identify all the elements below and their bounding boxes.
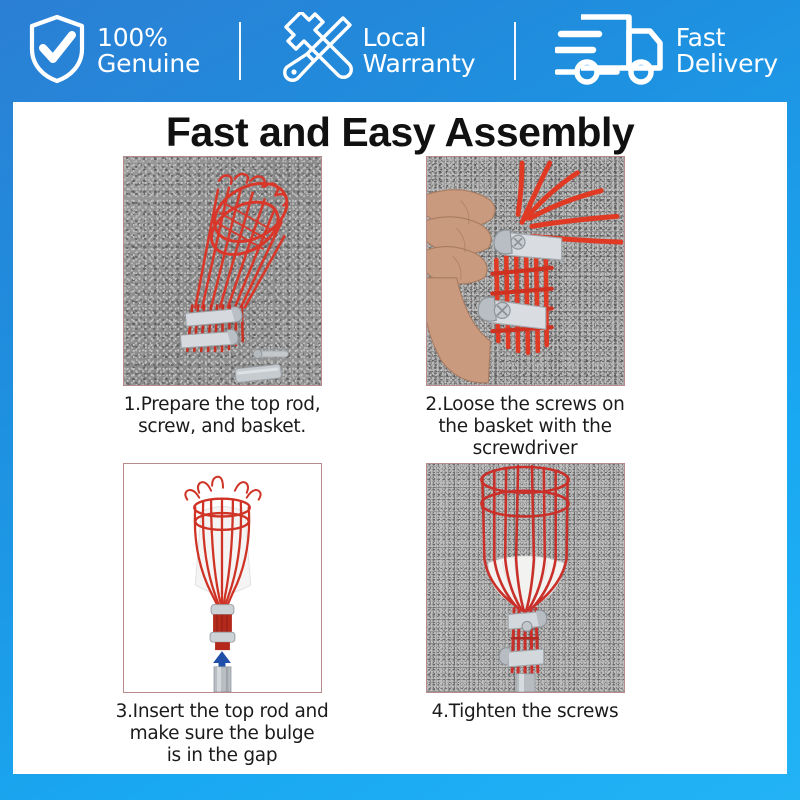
step-2-photo: [426, 156, 625, 386]
fruit-picker-basket-illustration: [124, 157, 321, 385]
page-title: Fast and Easy Assembly: [13, 102, 787, 156]
badge-genuine: 100% Genuine: [26, 13, 200, 89]
coupling: [210, 605, 235, 651]
step-3-caption: 3.Insert the top rod and make sure the b…: [116, 701, 329, 766]
assembled-picker-illustration: [427, 464, 624, 692]
badge-genuine-label: 100% Genuine: [97, 25, 200, 78]
hose-clamp-lower: [499, 648, 544, 667]
step-1: 1.Prepare the top rod, screw, and basket…: [72, 156, 372, 438]
step-2: 2.Loose the screws on the basket with th…: [375, 156, 675, 459]
shield-check-icon: [26, 13, 88, 89]
badge-warranty: Local Warranty: [280, 12, 476, 90]
steps-grid: 1.Prepare the top rod, screw, and basket…: [13, 156, 787, 768]
hand: [427, 190, 495, 383]
infographic-page: 100% Genuine Local Warranty: [0, 0, 800, 800]
step-2-caption: 2.Loose the screws on the basket with th…: [425, 394, 624, 459]
step-4-photo: [426, 463, 625, 693]
content-card: Fast and Easy Assembly: [13, 102, 787, 774]
insert-rod-illustration: [124, 464, 321, 692]
step-4-caption: 4.Tighten the screws: [432, 701, 619, 723]
step-1-photo: [123, 156, 322, 386]
badge-warranty-label: Local Warranty: [363, 25, 476, 78]
top-rod: [214, 667, 231, 692]
badge-divider-1: [239, 22, 241, 80]
step-4: 4.Tighten the screws: [375, 463, 675, 723]
badge-delivery-label: Fast Delivery: [676, 25, 778, 78]
hand-loosening-clamps-illustration: [427, 157, 624, 385]
wrench-screwdriver-icon: [280, 12, 354, 90]
loose-screw: [253, 350, 288, 359]
delivery-truck-icon: [555, 10, 667, 92]
telescopic-pole: [516, 674, 535, 692]
badge-divider-2: [514, 22, 516, 80]
step-1-caption: 1.Prepare the top rod, screw, and basket…: [124, 394, 321, 438]
trust-badge-bar: 100% Genuine Local Warranty: [0, 0, 800, 102]
step-3: 3.Insert the top rod and make sure the b…: [72, 463, 372, 766]
badge-delivery: Fast Delivery: [555, 10, 778, 92]
hose-clamp-upper: [185, 307, 242, 327]
step-3-photo: [123, 463, 322, 693]
hose-clamp-upper: [494, 230, 562, 260]
top-rod: [234, 364, 281, 383]
